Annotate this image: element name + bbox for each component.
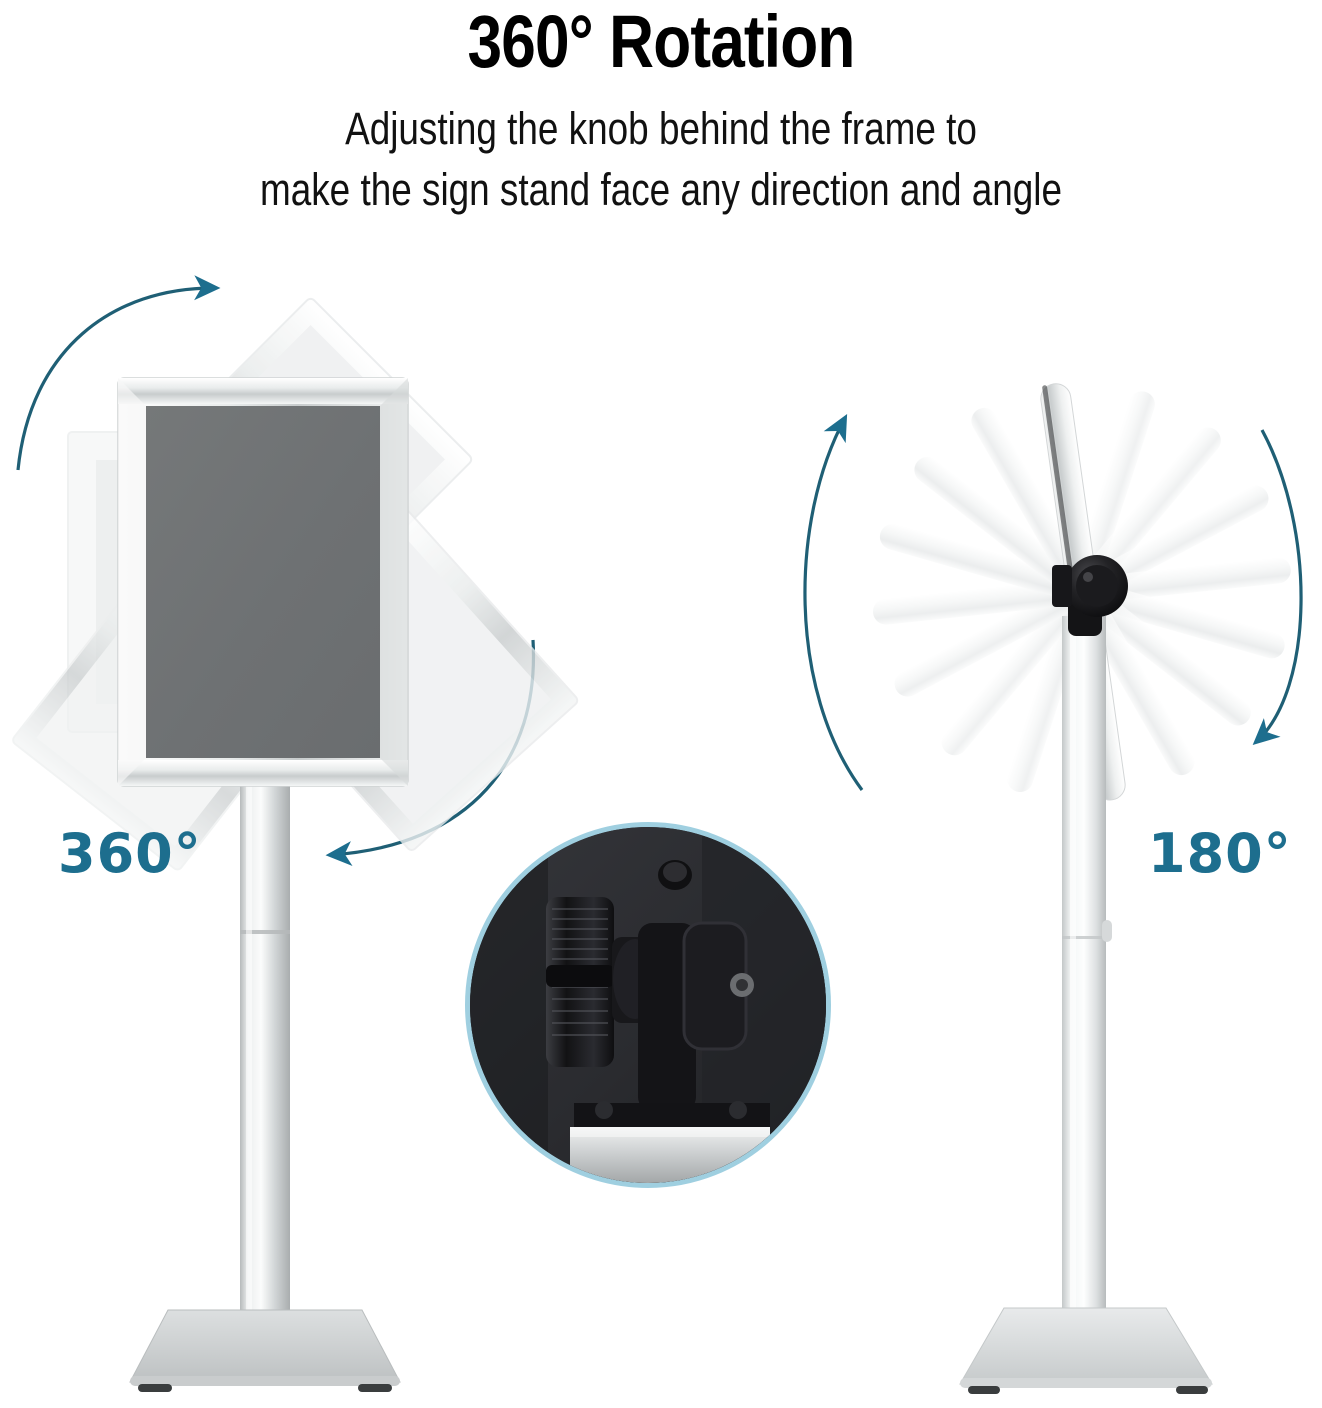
left-pole xyxy=(240,760,290,1315)
left-base xyxy=(130,1310,400,1392)
label-180-degrees: 180° xyxy=(1148,822,1292,885)
right-pole xyxy=(1062,616,1112,1316)
tilt-arc-right-arrow xyxy=(1256,430,1301,742)
knob-closeup-photo xyxy=(470,827,826,1183)
right-sign-stand xyxy=(805,382,1301,1394)
height-adjust-knob[interactable] xyxy=(1102,920,1112,942)
label-360-degrees: 360° xyxy=(58,822,202,885)
poster-area xyxy=(146,406,380,758)
tilt-arc-left-arrow xyxy=(805,418,862,790)
infographic-page: 360° Rotation Adjusting the knob behind … xyxy=(0,0,1322,1408)
knob-closeup-inset xyxy=(465,822,831,1188)
right-base xyxy=(960,1308,1212,1394)
product-illustration xyxy=(0,0,1322,1408)
illustration-scene xyxy=(0,0,1322,1408)
left-main-frame xyxy=(118,378,408,786)
